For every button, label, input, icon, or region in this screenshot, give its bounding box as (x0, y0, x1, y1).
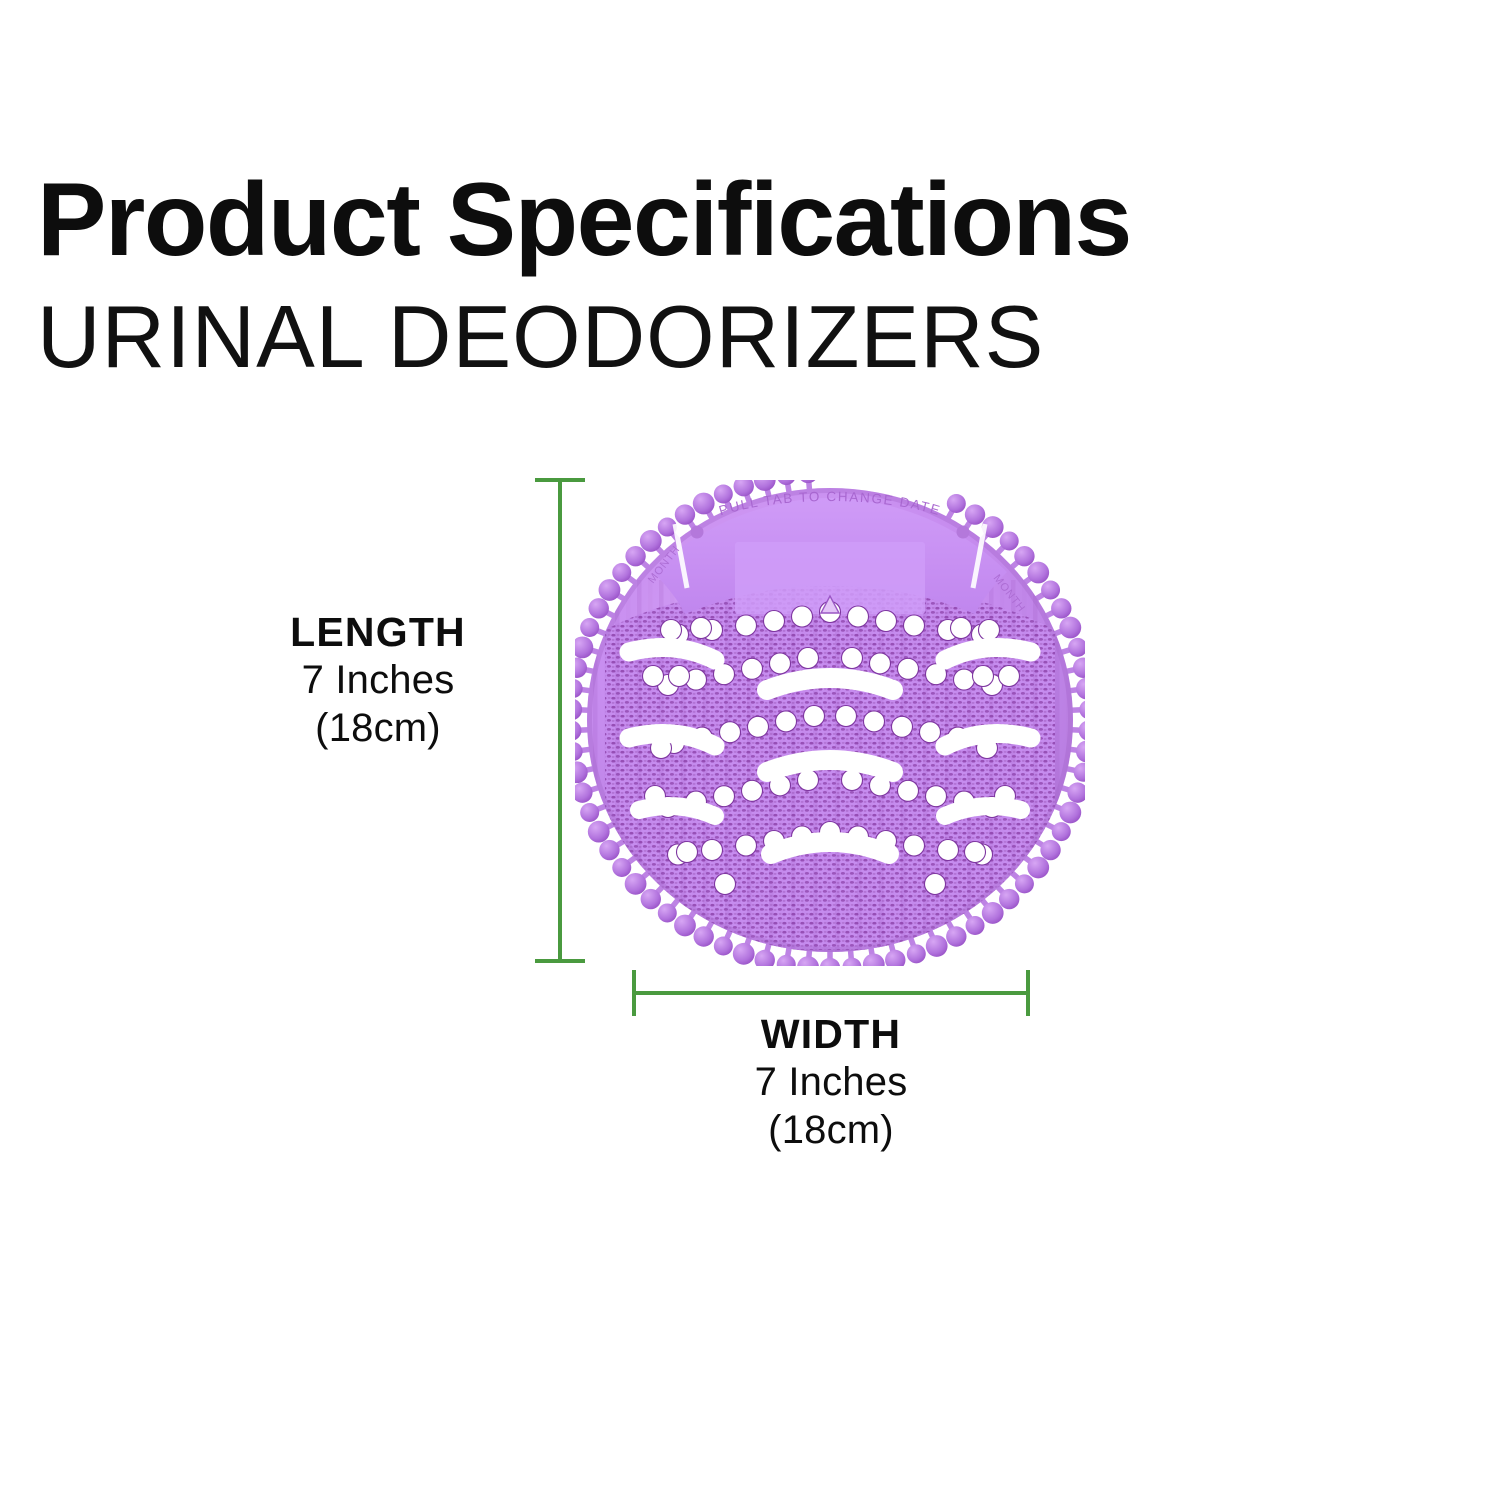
infographic-canvas: Product Specifications URINAL DEODORIZER… (0, 0, 1500, 1500)
width-label-group: WIDTH 7 Inches (18cm) (661, 1010, 1001, 1154)
length-value-metric: (18cm) (208, 704, 548, 752)
length-label-title: LENGTH (208, 608, 548, 656)
pin-hole-right (957, 526, 970, 539)
product-image: PULL TAB TO CHANGE DATE MONTH MONTH (575, 480, 1085, 966)
width-measure-line (634, 991, 1030, 995)
width-value-imperial: 7 Inches (661, 1058, 1001, 1106)
page-subtitle: URINAL DEODORIZERS (37, 288, 1467, 387)
length-label-group: LENGTH 7 Inches (18cm) (208, 608, 548, 752)
width-measure-cap-left (632, 970, 636, 1016)
page-title: Product Specifications (37, 168, 1467, 272)
heading-block: Product Specifications URINAL DEODORIZER… (37, 168, 1467, 387)
width-measure-cap-right (1026, 970, 1030, 1016)
length-measure-line (558, 478, 562, 963)
pin-hole-left (691, 526, 704, 539)
product-illustration: PULL TAB TO CHANGE DATE MONTH MONTH (575, 480, 1085, 966)
width-value-metric: (18cm) (661, 1106, 1001, 1154)
width-label-title: WIDTH (661, 1010, 1001, 1058)
length-value-imperial: 7 Inches (208, 656, 548, 704)
